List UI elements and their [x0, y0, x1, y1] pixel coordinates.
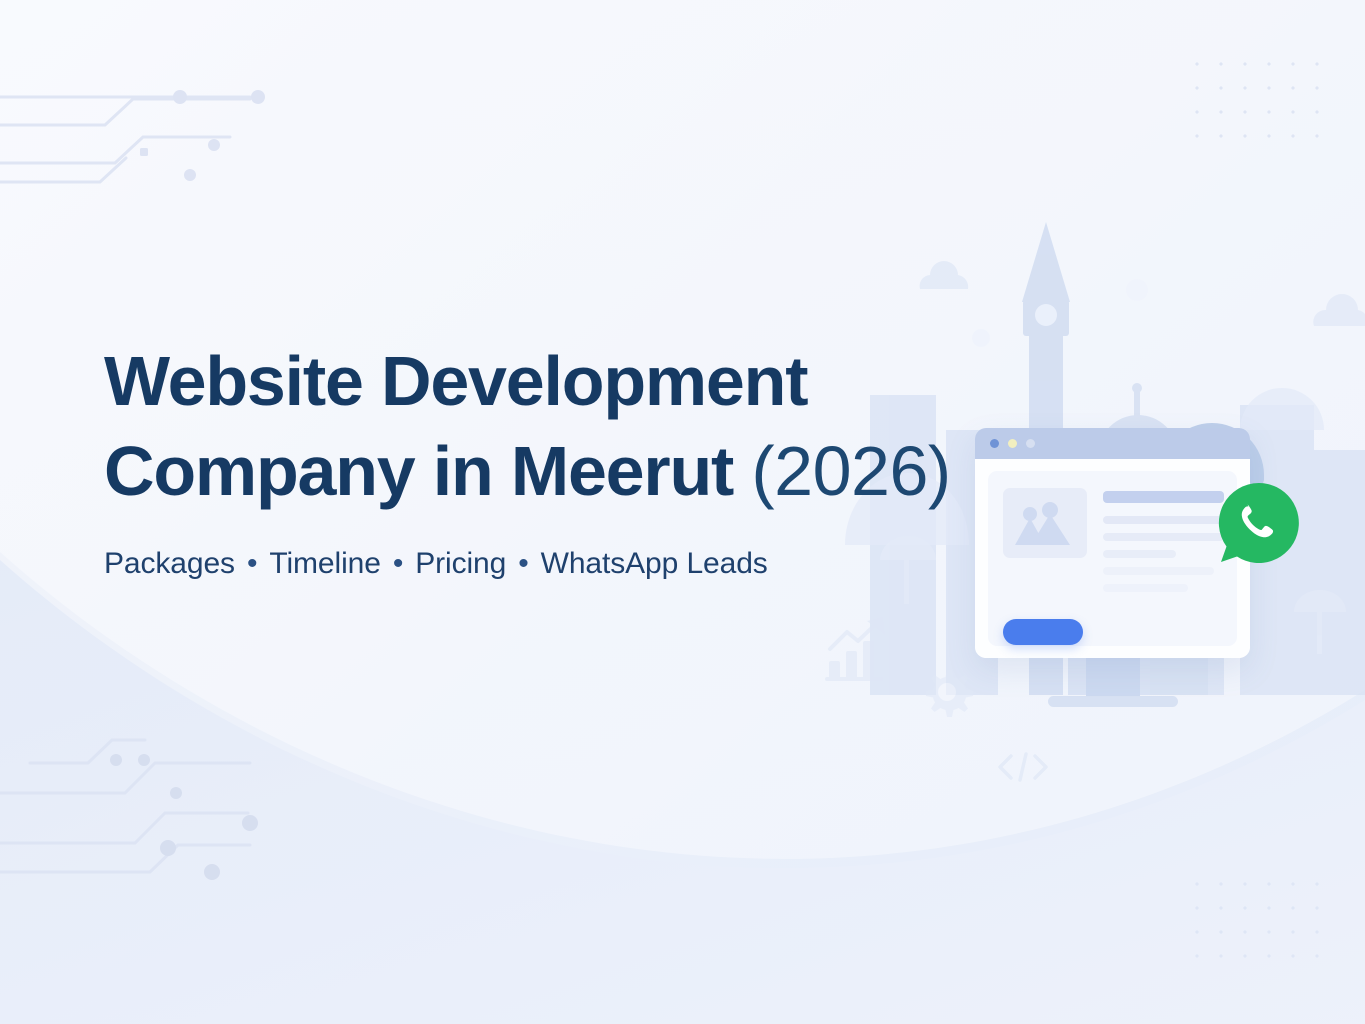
subtitle-item-pricing: Pricing — [415, 547, 506, 580]
whatsapp-chat-icon[interactable] — [1215, 480, 1301, 566]
window-minimize-dot[interactable] — [1008, 439, 1017, 448]
content-line — [1103, 550, 1176, 558]
hero-subtitle: Packages•Timeline•Pricing•WhatsApp Leads — [104, 547, 984, 581]
browser-content — [975, 459, 1250, 658]
browser-window — [975, 428, 1250, 658]
image-placeholder-icon — [1003, 488, 1087, 558]
headline-year: (2026) — [751, 432, 950, 510]
content-heading-line — [1103, 491, 1224, 503]
monitor-base — [1048, 696, 1178, 707]
subtitle-item-timeline: Timeline — [269, 547, 380, 580]
hero-banner: Website DevelopmentCompany in Meerut (20… — [0, 0, 1365, 1024]
headline-line-2: Company in Meerut — [104, 432, 751, 510]
monitor-neck — [1086, 658, 1140, 698]
content-line — [1103, 516, 1224, 524]
content-line — [1103, 567, 1214, 575]
gear-icon — [920, 665, 974, 719]
subtitle-item-whatsapp-leads: WhatsApp Leads — [541, 547, 768, 580]
content-line — [1103, 584, 1188, 592]
dot-grid-bottom-right — [1185, 872, 1325, 976]
page-title: Website DevelopmentCompany in Meerut (20… — [104, 336, 984, 517]
hero-text-block: Website DevelopmentCompany in Meerut (20… — [104, 336, 984, 581]
content-text-lines — [1103, 488, 1224, 601]
subtitle-item-packages: Packages — [104, 547, 235, 580]
dot-grid-top-right — [1185, 52, 1325, 156]
subtitle-separator: • — [247, 547, 257, 581]
content-line — [1103, 533, 1224, 541]
headline-line-1: Website Development — [104, 342, 807, 420]
primary-cta-button[interactable] — [1003, 619, 1083, 645]
subtitle-separator: • — [393, 547, 403, 581]
subtitle-separator: • — [518, 547, 528, 581]
browser-title-bar — [975, 428, 1250, 459]
window-close-dot[interactable] — [990, 439, 999, 448]
code-brackets-icon — [995, 750, 1051, 784]
window-maximize-dot[interactable] — [1026, 439, 1035, 448]
website-mockup — [975, 428, 1250, 718]
growth-chart-icon — [825, 615, 905, 685]
